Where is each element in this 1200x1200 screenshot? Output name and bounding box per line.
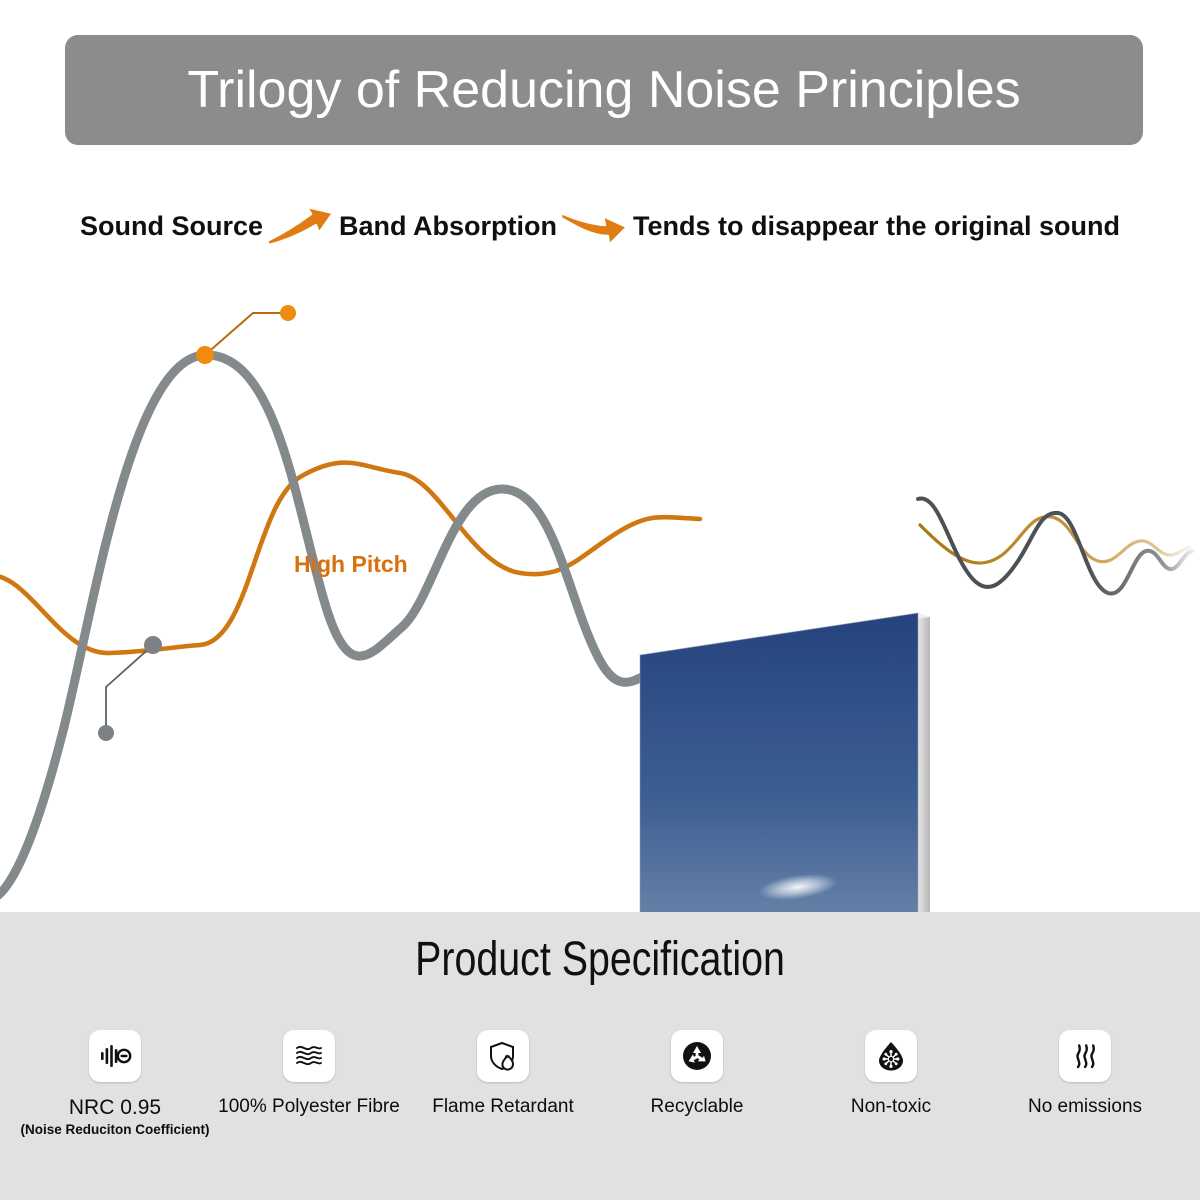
wave-svg	[0, 255, 1200, 910]
spec-item-recyclable: Recyclable	[600, 1030, 794, 1118]
product-specification-section: Product Specification NRC 0.95 (Noise Re…	[0, 912, 1200, 1200]
header-banner: Trilogy of Reducing Noise Principles	[65, 35, 1143, 145]
mid-bass-label-dot	[98, 725, 114, 741]
spec-label-nrc: NRC 0.95	[69, 1096, 161, 1120]
spec-item-non-toxic: Non-toxic	[794, 1030, 988, 1118]
mid-bass-marker-dot	[144, 636, 162, 654]
arrow-up-right-icon	[263, 203, 339, 249]
non-toxic-droplet-icon	[865, 1030, 917, 1082]
spec-label-no-emissions: No emissions	[1028, 1096, 1142, 1118]
high-pitch-wave-left-visible	[0, 355, 662, 900]
mid-bass-wave-right	[920, 517, 1190, 563]
spec-label-recyclable: Recyclable	[651, 1096, 744, 1118]
flow-row: Sound Source Band Absorption Tends to di…	[0, 200, 1200, 252]
arrow-down-right-icon	[557, 203, 633, 249]
high-pitch-marker-dot	[196, 346, 214, 364]
flow-label-band-absorption: Band Absorption	[339, 213, 557, 240]
spec-label-non-toxic: Non-toxic	[851, 1096, 931, 1118]
spec-item-nrc: NRC 0.95 (Noise Reduciton Coefficient)	[18, 1030, 212, 1138]
shield-flame-icon	[477, 1030, 529, 1082]
flow-label-tends-to-disappear: Tends to disappear the original sound	[633, 213, 1120, 240]
wavy-fibre-icon	[283, 1030, 335, 1082]
no-emissions-icon	[1059, 1030, 1111, 1082]
sound-mute-icon	[89, 1030, 141, 1082]
high-pitch-leader-line	[205, 313, 286, 355]
flow-label-sound-source: Sound Source	[80, 213, 263, 240]
page-title: Trilogy of Reducing Noise Principles	[187, 64, 1020, 116]
recycle-icon	[671, 1030, 723, 1082]
high-pitch-label-dot	[280, 305, 296, 321]
spec-item-no-emissions: No emissions	[988, 1030, 1182, 1118]
spec-label-flame-retardant: Flame Retardant	[432, 1096, 574, 1118]
spec-items-row: NRC 0.95 (Noise Reduciton Coefficient) 1…	[0, 1030, 1200, 1138]
spec-item-polyester-fibre: 100% Polyester Fibre	[212, 1030, 406, 1118]
wave-diagram: High Pitch Mid Bass	[0, 255, 1200, 910]
spec-sublabel-nrc: (Noise Reduciton Coefficient)	[20, 1122, 209, 1138]
mid-bass-leader-line	[106, 645, 153, 733]
spec-label-polyester-fibre: 100% Polyester Fibre	[218, 1096, 400, 1118]
spec-section-title: Product Specification	[108, 934, 1092, 987]
spec-item-flame-retardant: Flame Retardant	[406, 1030, 600, 1118]
callout-label-high-pitch: High Pitch	[294, 553, 408, 576]
